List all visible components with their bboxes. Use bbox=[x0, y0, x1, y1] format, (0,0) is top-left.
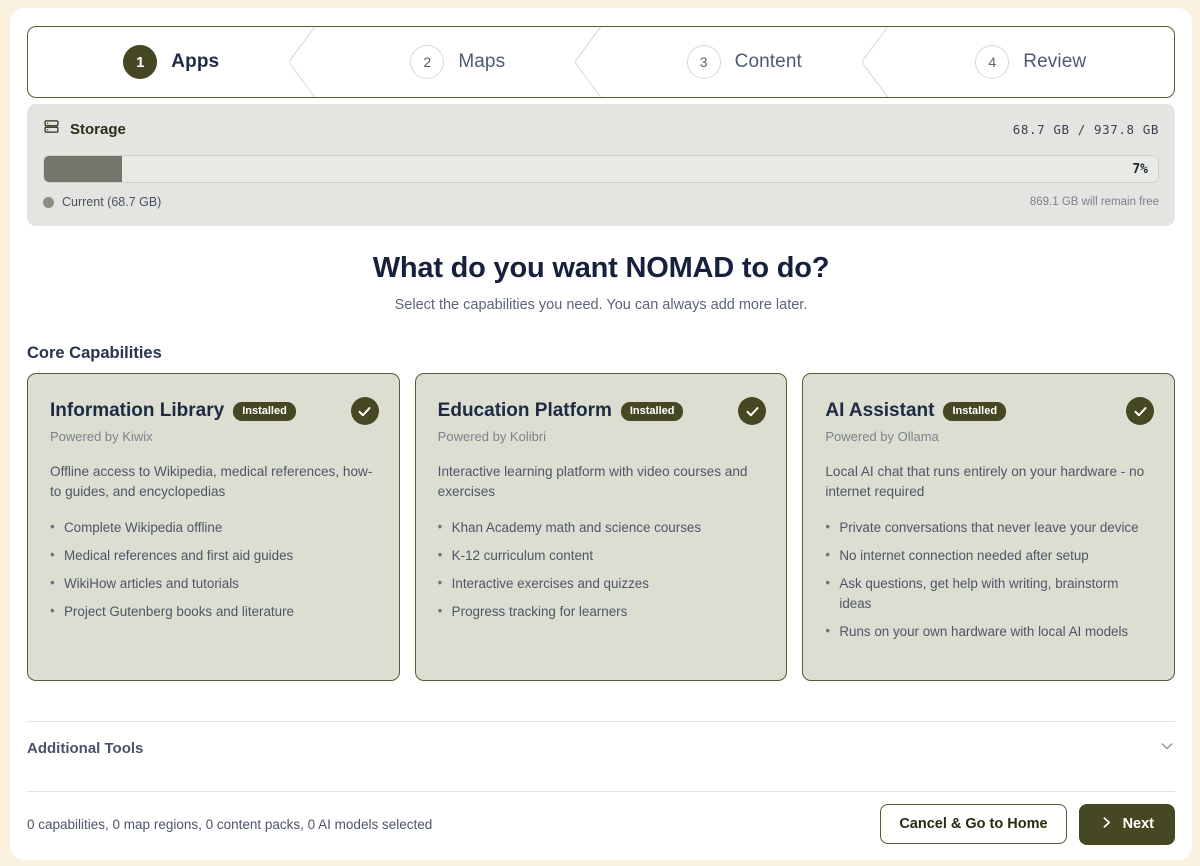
list-item: K-12 curriculum content bbox=[438, 546, 765, 566]
step-apps[interactable]: 1 Apps bbox=[28, 27, 315, 97]
storage-title: Storage bbox=[70, 121, 126, 138]
storage-header: Storage 68.7 GB / 937.8 GB bbox=[43, 118, 1159, 140]
storage-footer: Current (68.7 GB) 869.1 GB will remain f… bbox=[43, 195, 1159, 209]
card-feature-list: Khan Academy math and science courses K-… bbox=[438, 518, 765, 621]
list-item: Khan Academy math and science courses bbox=[438, 518, 765, 538]
list-item: No internet connection needed after setu… bbox=[825, 546, 1152, 566]
storage-progress-percent: 7% bbox=[1132, 162, 1148, 177]
chevron-down-icon[interactable] bbox=[1159, 738, 1175, 759]
installed-badge: Installed bbox=[621, 402, 684, 421]
capability-card-education-platform[interactable]: Education Platform Installed Powered by … bbox=[415, 373, 788, 681]
card-header: Information Library Installed bbox=[50, 400, 377, 422]
card-title: Education Platform bbox=[438, 400, 612, 422]
page-subtitle: Select the capabilities you need. You ca… bbox=[10, 297, 1192, 313]
divider-above-additional-tools bbox=[27, 721, 1175, 722]
list-item: WikiHow articles and tutorials bbox=[50, 574, 377, 594]
wizard-stepper: 1 Apps 2 Maps 3 Content 4 Review bbox=[27, 26, 1175, 98]
storage-remaining-label: 869.1 GB will remain free bbox=[1030, 196, 1159, 208]
list-item: Ask questions, get help with writing, br… bbox=[825, 574, 1152, 614]
card-description: Offline access to Wikipedia, medical ref… bbox=[50, 462, 377, 502]
list-item: Progress tracking for learners bbox=[438, 602, 765, 622]
additional-tools-section[interactable]: Additional Tools bbox=[27, 738, 1175, 759]
list-item: Runs on your own hardware with local AI … bbox=[825, 622, 1152, 642]
step-apps-label: Apps bbox=[171, 51, 219, 73]
app-window: 1 Apps 2 Maps 3 Content 4 Review bbox=[10, 8, 1192, 860]
cancel-go-home-button[interactable]: Cancel & Go to Home bbox=[880, 804, 1066, 844]
step-review-number: 4 bbox=[975, 45, 1009, 79]
capability-card-ai-assistant[interactable]: AI Assistant Installed Powered by Ollama… bbox=[802, 373, 1175, 681]
card-description: Local AI chat that runs entirely on your… bbox=[825, 462, 1152, 502]
installed-badge: Installed bbox=[233, 402, 296, 421]
selected-check-icon[interactable] bbox=[1126, 397, 1154, 425]
list-item: Interactive exercises and quizzes bbox=[438, 574, 765, 594]
divider-above-footer bbox=[27, 791, 1175, 792]
card-powered-by: Powered by Kolibri bbox=[438, 429, 765, 444]
storage-drive-icon bbox=[43, 118, 60, 140]
card-header: AI Assistant Installed bbox=[825, 400, 1152, 422]
step-apps-number: 1 bbox=[123, 45, 157, 79]
step-content-label: Content bbox=[735, 51, 802, 73]
capability-card-list: Information Library Installed Powered by… bbox=[27, 373, 1175, 681]
card-feature-list: Complete Wikipedia offline Medical refer… bbox=[50, 518, 377, 621]
list-item: Complete Wikipedia offline bbox=[50, 518, 377, 538]
section-heading-core-capabilities: Core Capabilities bbox=[27, 344, 162, 363]
step-maps-number: 2 bbox=[410, 45, 444, 79]
next-button[interactable]: Next bbox=[1079, 804, 1175, 845]
step-review-label: Review bbox=[1023, 51, 1086, 73]
card-powered-by: Powered by Ollama bbox=[825, 429, 1152, 444]
card-title: AI Assistant bbox=[825, 400, 934, 422]
legend-swatch-icon bbox=[43, 197, 54, 208]
selection-summary: 0 capabilities, 0 map regions, 0 content… bbox=[27, 817, 432, 832]
step-maps[interactable]: 2 Maps bbox=[315, 27, 602, 97]
capability-card-information-library[interactable]: Information Library Installed Powered by… bbox=[27, 373, 400, 681]
step-content-number: 3 bbox=[687, 45, 721, 79]
installed-badge: Installed bbox=[943, 402, 1006, 421]
list-item: Project Gutenberg books and literature bbox=[50, 602, 377, 622]
storage-panel: Storage 68.7 GB / 937.8 GB 7% Current (6… bbox=[27, 104, 1175, 226]
list-item: Private conversations that never leave y… bbox=[825, 518, 1152, 538]
step-content[interactable]: 3 Content bbox=[601, 27, 888, 97]
additional-tools-title: Additional Tools bbox=[27, 740, 143, 757]
card-description: Interactive learning platform with video… bbox=[438, 462, 765, 502]
chevron-right-icon bbox=[1100, 816, 1113, 833]
footer-bar: 0 capabilities, 0 map regions, 0 content… bbox=[27, 798, 1175, 850]
storage-legend-label: Current (68.7 GB) bbox=[62, 195, 161, 209]
card-title: Information Library bbox=[50, 400, 224, 422]
list-item: Medical references and first aid guides bbox=[50, 546, 377, 566]
step-maps-label: Maps bbox=[458, 51, 505, 73]
storage-progress-fill bbox=[44, 156, 122, 182]
selected-check-icon[interactable] bbox=[351, 397, 379, 425]
step-review[interactable]: 4 Review bbox=[888, 27, 1175, 97]
card-header: Education Platform Installed bbox=[438, 400, 765, 422]
next-button-label: Next bbox=[1123, 816, 1154, 832]
footer-actions: Cancel & Go to Home Next bbox=[880, 804, 1175, 845]
storage-capacity: 68.7 GB / 937.8 GB bbox=[1013, 122, 1159, 137]
card-feature-list: Private conversations that never leave y… bbox=[825, 518, 1152, 641]
page-title: What do you want NOMAD to do? bbox=[10, 252, 1192, 285]
storage-progress-bar: 7% bbox=[43, 155, 1159, 183]
card-powered-by: Powered by Kiwix bbox=[50, 429, 377, 444]
